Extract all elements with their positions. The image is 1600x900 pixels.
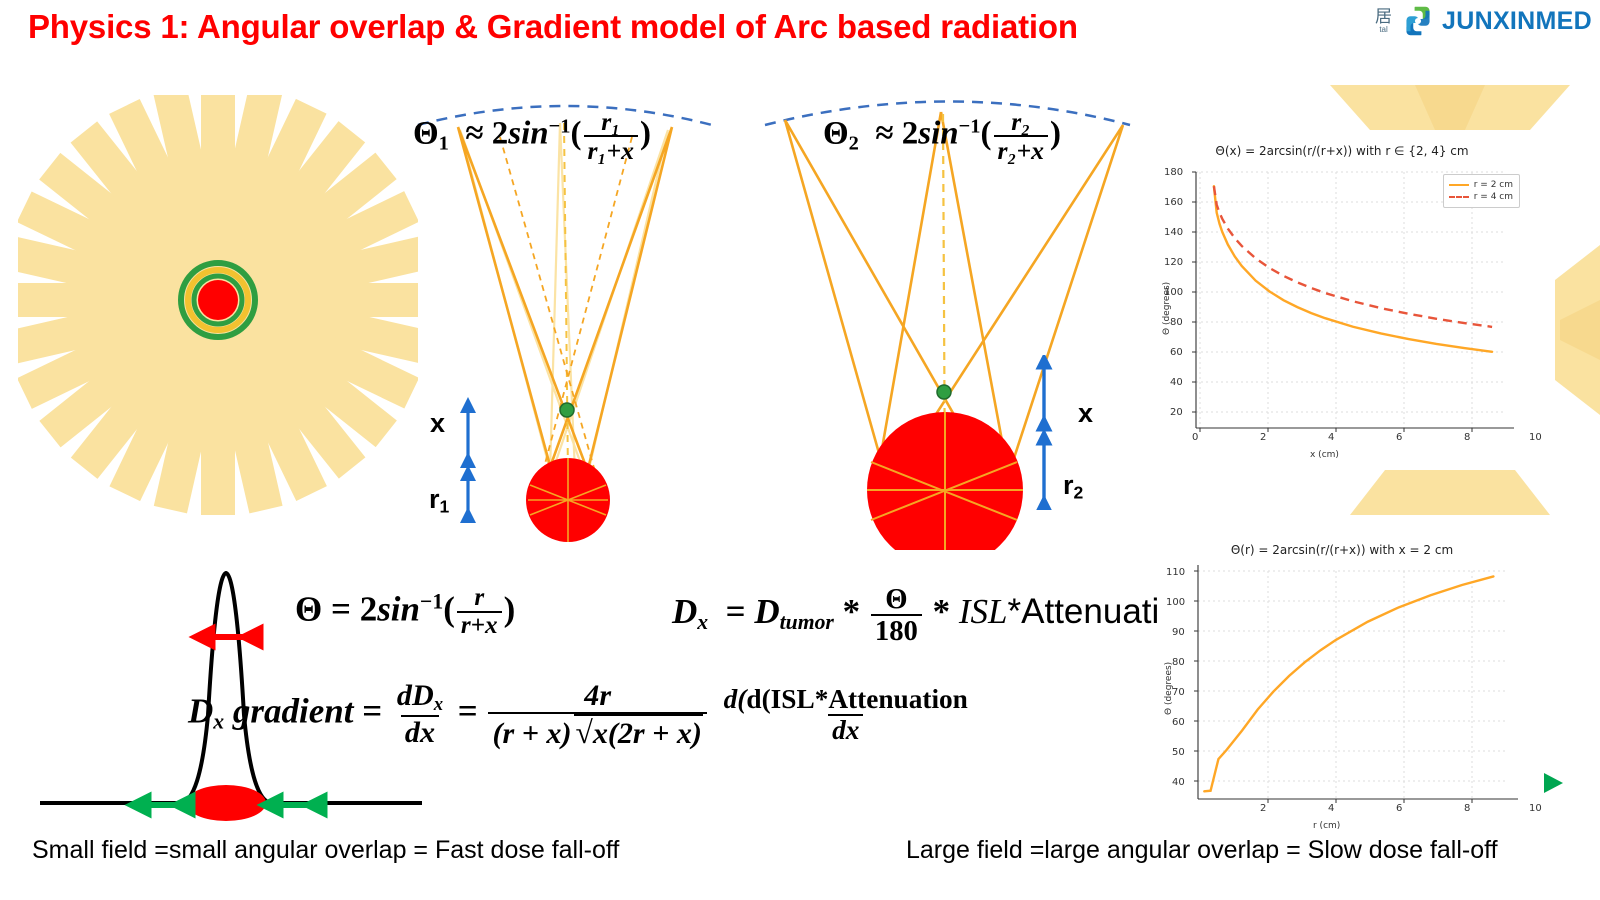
play-triangle-icon[interactable] [1540,770,1566,796]
grad-f1-den: dx [401,715,439,749]
large-field-formula: Θ2 ≈ 2sin−1( r₂ r₂+x ) [823,108,1061,164]
grad-d-symbol: D [188,692,213,731]
theta-frac-den: r+x [457,611,502,639]
chart-theta-vs-r: Θ(r) = 2arcsin(r/(r+x)) with x = 2 cm 11… [1158,535,1526,835]
isl-term: ISL [959,592,1008,631]
large-field-x-label: x [1078,398,1093,429]
dose-star-2: * [933,592,951,631]
chart2-axes [1198,565,1518,799]
dose-equation: Dx = Dtumor * Θ 180 * ISL*Attenuation [672,584,1198,646]
approx-sign-1: ≈ [465,116,483,152]
dose-frac-num: Θ [881,584,911,614]
legend-label: r = 4 cm [1474,192,1513,202]
theta-coef: 2 [360,589,378,628]
slide-root: Physics 1: Angular overlap & Gradient mo… [0,0,1600,900]
chart2-xtick: 10 [1529,803,1542,814]
inverse-exp-1: −1 [549,115,571,137]
grad-equals-1: = [362,692,382,731]
theta2-symbol: Θ [823,116,849,152]
chart2-series-x2 [1204,576,1493,791]
dx-symbol: D [672,592,697,631]
theta-exp: −1 [420,590,443,614]
tumor-profile [186,785,266,821]
grad-f1-num: dDx [393,680,447,715]
equals-sign: = [331,589,351,628]
chart-theta-vs-x: Θ(x) = 2arcsin(r/(r+x)) with r ∈ {2, 4} … [1158,140,1526,470]
inverse-exp-2: −1 [959,115,981,137]
small-field-r1-label: r1 [429,484,449,517]
sin-fn-1: sin [508,116,548,152]
theta2-subscript: 2 [849,132,859,154]
page-title: Physics 1: Angular overlap & Gradient mo… [28,8,1368,46]
brand-logo: 居 tal JUNXINMED [1375,4,1592,38]
dtumor-symbol: D [754,592,779,631]
legend-swatch-solid-icon [1449,184,1469,186]
isocenter-marker [560,403,574,417]
frac2-numerator: r₂ [1007,108,1034,135]
stamp-glyph: 居 [1375,8,1392,25]
theta-sin: sin [377,589,420,628]
caption-left: Small field =small angular overlap = Fas… [32,836,619,865]
dose-star-1: * [843,592,861,631]
grad-f2-den: (r + x)√x(2r + x) [488,712,706,750]
chart1-series-r2 [1214,186,1492,352]
theta-symbol: Θ [295,589,322,628]
grad-f3-num: d(d(ISL*Attenuation [720,685,972,714]
isocenter-marker-large [937,385,951,399]
grad-f2-num: 4r [580,680,615,712]
dx-subscript: x [697,610,708,634]
theta1-symbol: Θ [413,116,439,152]
chart1-axes [1196,172,1514,428]
coef-2: 2 [902,116,919,152]
dose-frac-den: 180 [871,614,922,646]
small-field-x-label: x [430,408,445,439]
grad-word: gradient [233,692,354,731]
legend-item: r = 2 cm [1449,179,1513,191]
chart1-xtick: 10 [1529,432,1542,443]
grad-equals-2: = [458,692,478,731]
dose-equals: = [726,592,746,631]
approx-sign-2: ≈ [875,116,893,152]
sin-fn-2: sin [918,116,958,152]
theta-equation: Θ = 2sin−1( r r+x ) [295,585,515,640]
frac1-denominator: r₁+x [584,135,639,164]
chart1-legend: r = 2 cm r = 4 cm [1443,174,1520,208]
stamp-subtext: tal [1379,26,1387,34]
dtumor-subscript: tumor [780,610,834,634]
chart2-axis-ticks [1194,571,1472,803]
grad-d-subscript: x [213,710,224,734]
grad-f3-den: dx [828,714,863,745]
dose-star-3: * [1008,592,1022,631]
chart1-gridlines [1196,172,1506,428]
chart2-plot-area [1158,535,1526,835]
theta1-subscript: 1 [439,132,449,154]
frac1-numerator: r₁ [597,108,624,135]
chart2-gridlines [1198,571,1506,799]
frac2-denominator: r₂+x [994,135,1049,164]
legend-label: r = 2 cm [1474,180,1513,190]
brand-name: JUNXINMED [1442,7,1592,36]
junxinmed-cross-icon [1401,4,1435,38]
large-field-dimension-arrows [1022,355,1066,510]
theta-frac-num: r [470,585,488,611]
coef-1: 2 [492,116,509,152]
large-field-r2-label: r2 [1063,470,1083,503]
tumor-target [198,280,238,320]
hospital-stamp-icon: 居 tal [1375,8,1392,34]
star-beam-diagram [18,95,418,535]
chart1-axis-ticks [1192,172,1472,432]
gradient-equation: Dx gradient = dDx dx = 4r (r + x)√x(2r +… [188,680,974,749]
legend-swatch-dashed-icon [1449,196,1469,198]
legend-item: r = 4 cm [1449,191,1513,203]
caption-right: Large field =large angular overlap = Slo… [906,836,1498,865]
small-field-formula: Θ1 ≈ 2sin−1( r₁ r₁+x ) [413,108,651,164]
